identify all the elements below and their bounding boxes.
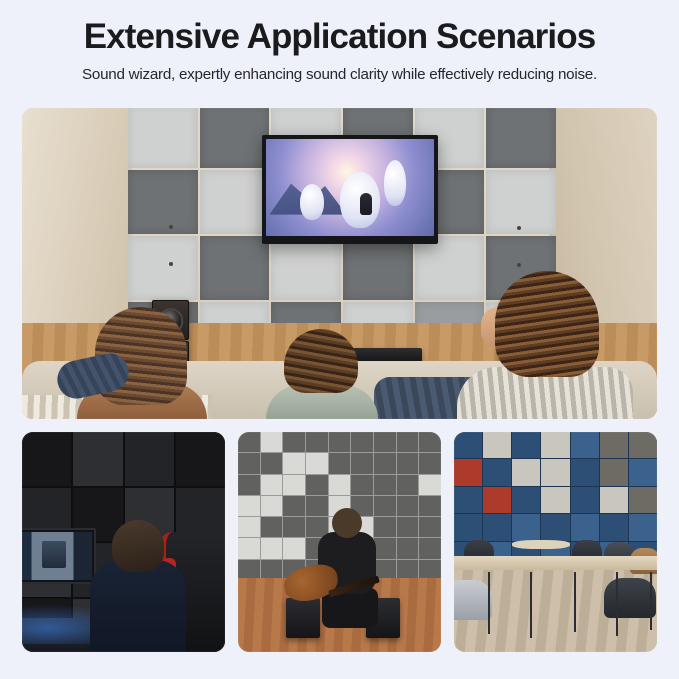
hero-person-girl xyxy=(453,267,633,419)
hero-person-boy xyxy=(262,327,380,419)
hero-tv-screen xyxy=(266,139,434,236)
page-root: Extensive Application Scenarios Sound wi… xyxy=(0,0,679,679)
thumb3-round-table xyxy=(512,540,570,549)
hero-image-home-theater xyxy=(22,108,657,419)
hero-person-woman xyxy=(67,307,209,419)
thumbnail-music-practice-studio xyxy=(238,432,441,652)
thumbnail-gaming-editing-studio xyxy=(22,432,225,652)
thumb1-monitor xyxy=(22,528,96,584)
thumbnail-office-conference-room xyxy=(454,432,657,652)
thumb3-conference-table xyxy=(454,556,657,570)
thumb1-person-editor xyxy=(90,520,186,652)
hero-television xyxy=(262,135,438,244)
thumb3-chair-front-2 xyxy=(604,578,656,618)
page-title: Extensive Application Scenarios xyxy=(0,17,679,56)
header: Extensive Application Scenarios Sound wi… xyxy=(0,0,679,83)
page-subtitle: Sound wizard, expertly enhancing sound c… xyxy=(0,66,679,83)
thumb3-chair-front-1 xyxy=(454,580,492,620)
